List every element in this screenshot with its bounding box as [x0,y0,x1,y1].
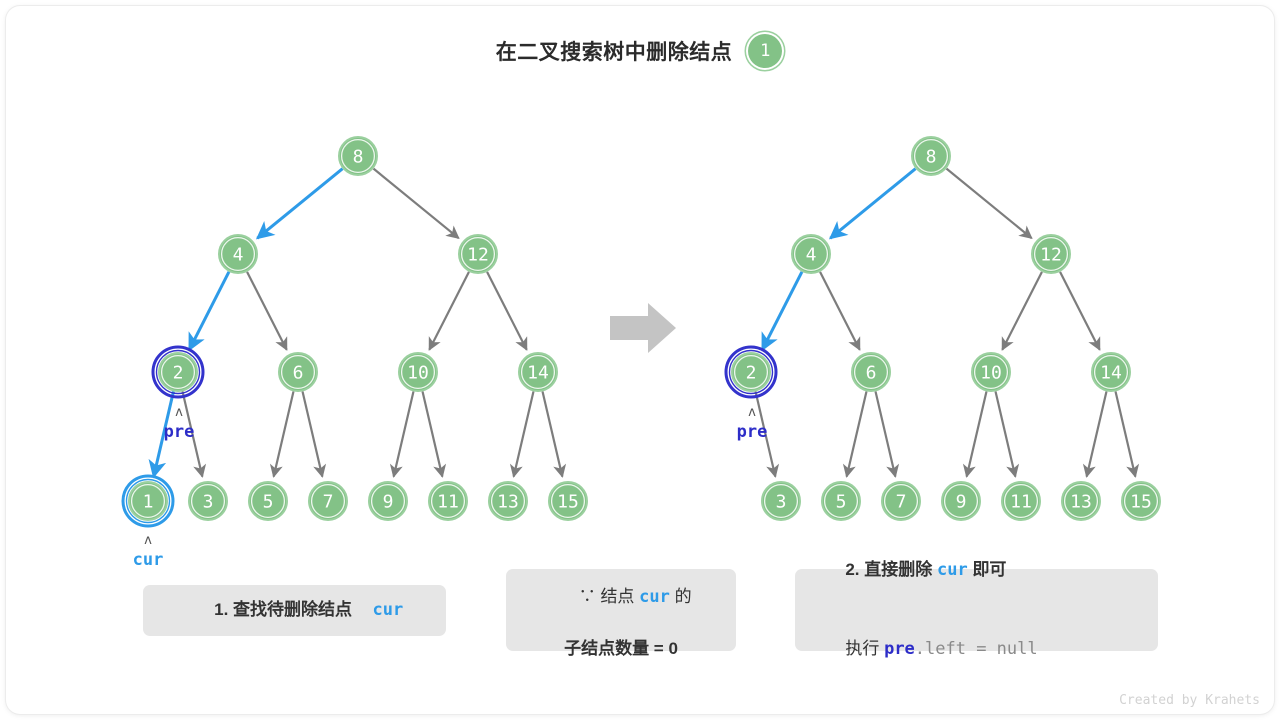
node-label: 9 [956,492,967,513]
tree-node-1: 1 [123,476,173,526]
pointer-caret: ʌ [748,405,756,420]
caption-step-2-line-1: 2. 直接删除 cur 即可 [817,531,1158,610]
tree-node-8: 8 [339,137,377,175]
caption-reason-code: cur [639,587,670,607]
pointer-label-pre: pre [164,422,195,442]
node-label: 12 [467,245,489,266]
node-label: 6 [293,363,304,384]
caption-step-2-prefix: 2. 直接删除 [845,560,932,579]
caption-reason-line-1: ∵ 结点 cur 的 [550,557,691,636]
because-symbol: ∵ [579,587,596,606]
tree-edge [967,391,987,476]
caption-reason-line-2: 子结点数量 = 0 [564,636,678,662]
diagram-canvas: 在二叉搜索树中删除结点 1 84122610141357911131584122… [0,0,1280,720]
tree-edge [1060,272,1100,350]
tree-node-15: 15 [549,482,587,520]
tree-edge [303,391,323,476]
node-label: 6 [866,363,877,384]
caption-reason-pre: 结点 [600,587,634,606]
tree-edge [189,272,229,350]
tree-node-3: 3 [189,482,227,520]
transition-arrow [610,303,676,353]
node-label: 10 [980,363,1002,384]
node-label: 7 [323,492,334,513]
node-label: 2 [746,363,757,384]
node-label: 8 [926,147,937,168]
tree-node-8: 8 [912,137,950,175]
footer-credit: Created by Krahets [1119,693,1260,708]
node-label: 3 [203,492,214,513]
tree-node-2: 2 [153,347,203,397]
tree-edge [429,272,469,350]
tree-node-13: 13 [489,482,527,520]
node-label: 15 [1130,492,1152,513]
node-label: 1 [143,492,154,513]
caption-step-1-prefix: 1. 查找待删除结点 [214,600,352,619]
caption-step-1-line: 1. 查找待删除结点 cur [186,571,403,650]
tree-node-4: 4 [792,235,830,273]
caption-step-2: 2. 直接删除 cur 即可 执行 pre.left = null [795,569,1158,651]
tree-node-9: 9 [369,482,407,520]
tree-edge [274,391,294,476]
tree-node-7: 7 [882,482,920,520]
tree-node-11: 11 [429,482,467,520]
tree-edge [514,391,534,476]
tree-edge [373,169,458,239]
node-label: 9 [383,492,394,513]
tree-edge [876,391,896,476]
caption-step-2-exec: 执行 [845,639,879,658]
tree-edge [996,391,1016,476]
caption-step-2-code: cur [937,560,968,580]
tree-node-12: 12 [459,235,497,273]
tree-node-3: 3 [762,482,800,520]
tree-edge [487,272,527,350]
tree-node-12: 12 [1032,235,1070,273]
node-label: 12 [1040,245,1062,266]
node-label: 4 [806,245,817,266]
pointer-caret: ʌ [175,405,183,420]
pointer-caret: ʌ [144,533,152,548]
tree-edge [1116,391,1136,476]
tree-edge [423,391,443,476]
tree-edge [394,391,414,476]
tree-edge [762,272,802,350]
tree-edge [847,391,867,476]
tree-edge [543,391,563,476]
tree-edge [257,169,342,239]
caption-reason-post: 的 [675,587,692,606]
node-label: 5 [836,492,847,513]
node-label: 11 [1010,492,1032,513]
caption-step-2-assign: .left = null [915,639,1038,659]
tree-node-14: 14 [519,353,557,391]
node-label: 4 [233,245,244,266]
tree-node-13: 13 [1062,482,1100,520]
caption-step-1-code: cur [373,600,404,620]
tree-edge [830,169,915,239]
node-label: 10 [407,363,429,384]
tree-node-6: 6 [852,353,890,391]
node-label: 5 [263,492,274,513]
caption-step-2-pre-var: pre [884,639,915,659]
tree-edge [247,272,287,350]
tree-node-11: 11 [1002,482,1040,520]
tree-node-6: 6 [279,353,317,391]
node-label: 13 [497,492,519,513]
node-label: 13 [1070,492,1092,513]
node-label: 8 [353,147,364,168]
caption-step-2-line-2: 执行 pre.left = null [817,610,1158,689]
tree-node-15: 15 [1122,482,1160,520]
tree-node-10: 10 [972,353,1010,391]
node-label: 14 [527,363,549,384]
node-label: 2 [173,363,184,384]
node-label: 14 [1100,363,1122,384]
caption-reason: ∵ 结点 cur 的 子结点数量 = 0 [506,569,736,651]
node-label: 11 [437,492,459,513]
tree-edge [1002,272,1042,350]
node-label: 15 [557,492,579,513]
pointer-label-pre: pre [737,422,768,442]
tree-node-9: 9 [942,482,980,520]
tree-edge [946,169,1031,239]
tree-node-5: 5 [249,482,287,520]
tree-edge [1087,391,1107,476]
tree-node-5: 5 [822,482,860,520]
tree-node-14: 14 [1092,353,1130,391]
tree-edge [820,272,860,350]
node-label: 7 [896,492,907,513]
node-label: 3 [776,492,787,513]
tree-node-7: 7 [309,482,347,520]
caption-step-1: 1. 查找待删除结点 cur [143,585,446,636]
pointer-label-cur: cur [133,550,164,570]
tree-node-4: 4 [219,235,257,273]
tree-node-10: 10 [399,353,437,391]
tree-node-2: 2 [726,347,776,397]
caption-step-2-post: 即可 [972,560,1006,579]
